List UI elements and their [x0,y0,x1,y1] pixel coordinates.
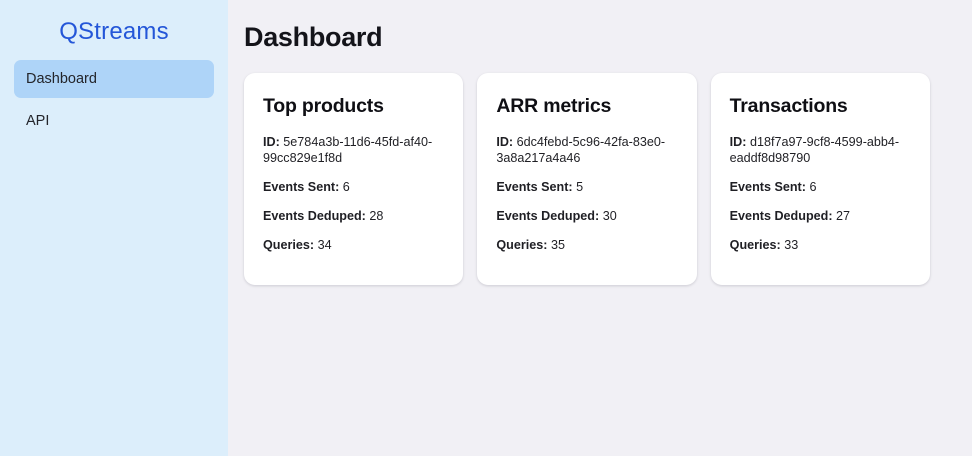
card-grid: Top products ID: 5e784a3b-11d6-45fd-af40… [244,73,930,285]
card-id-row: ID: d18f7a97-9cf8-4599-abb4-eaddf8d98790 [730,134,911,166]
card-events-sent-row: Events Sent: 5 [496,179,677,195]
metric-card[interactable]: Transactions ID: d18f7a97-9cf8-4599-abb4… [711,73,930,285]
card-events-sent-label: Events Sent: [496,180,572,194]
card-queries-label: Queries: [496,238,547,252]
sidebar-item-dashboard[interactable]: Dashboard [14,60,214,98]
card-events-sent-value: 5 [576,180,583,194]
card-queries-value: 34 [318,238,332,252]
card-queries-row: Queries: 34 [263,237,444,253]
card-queries-row: Queries: 33 [730,237,911,253]
card-id-label: ID: [730,135,747,149]
card-queries-label: Queries: [730,238,781,252]
card-events-sent-row: Events Sent: 6 [730,179,911,195]
card-id-row: ID: 5e784a3b-11d6-45fd-af40-99cc829e1f8d [263,134,444,166]
main-content: Dashboard Top products ID: 5e784a3b-11d6… [228,0,972,456]
card-events-sent-label: Events Sent: [263,180,339,194]
sidebar: QStreams Dashboard API [0,0,228,456]
card-events-sent-value: 6 [343,180,350,194]
brand-logo[interactable]: QStreams [0,0,228,60]
card-queries-value: 33 [784,238,798,252]
card-events-deduped-value: 30 [603,209,617,223]
card-events-sent-label: Events Sent: [730,180,806,194]
card-queries-label: Queries: [263,238,314,252]
card-title: Transactions [730,95,911,118]
card-title: ARR metrics [496,95,677,118]
card-id-row: ID: 6dc4febd-5c96-42fa-83e0-3a8a217a4a46 [496,134,677,166]
card-events-sent-value: 6 [809,180,816,194]
card-id-label: ID: [496,135,513,149]
sidebar-item-api[interactable]: API [14,102,214,140]
card-events-deduped-label: Events Deduped: [263,209,366,223]
sidebar-item-label: API [26,113,49,129]
card-queries-value: 35 [551,238,565,252]
card-id-label: ID: [263,135,280,149]
card-events-sent-row: Events Sent: 6 [263,179,444,195]
card-queries-row: Queries: 35 [496,237,677,253]
metric-card[interactable]: ARR metrics ID: 6dc4febd-5c96-42fa-83e0-… [477,73,696,285]
card-events-deduped-label: Events Deduped: [730,209,833,223]
card-events-deduped-label: Events Deduped: [496,209,599,223]
card-events-deduped-value: 28 [369,209,383,223]
card-title: Top products [263,95,444,118]
card-events-deduped-row: Events Deduped: 30 [496,208,677,224]
card-events-deduped-value: 27 [836,209,850,223]
card-id-value: d18f7a97-9cf8-4599-abb4-eaddf8d98790 [730,135,899,165]
app-root: QStreams Dashboard API Dashboard Top pro… [0,0,972,456]
card-events-deduped-row: Events Deduped: 28 [263,208,444,224]
card-events-deduped-row: Events Deduped: 27 [730,208,911,224]
sidebar-nav: Dashboard API [0,60,228,140]
card-id-value: 5e784a3b-11d6-45fd-af40-99cc829e1f8d [263,135,432,165]
page-title: Dashboard [244,22,930,53]
sidebar-item-label: Dashboard [26,71,97,87]
card-id-value: 6dc4febd-5c96-42fa-83e0-3a8a217a4a46 [496,135,665,165]
metric-card[interactable]: Top products ID: 5e784a3b-11d6-45fd-af40… [244,73,463,285]
